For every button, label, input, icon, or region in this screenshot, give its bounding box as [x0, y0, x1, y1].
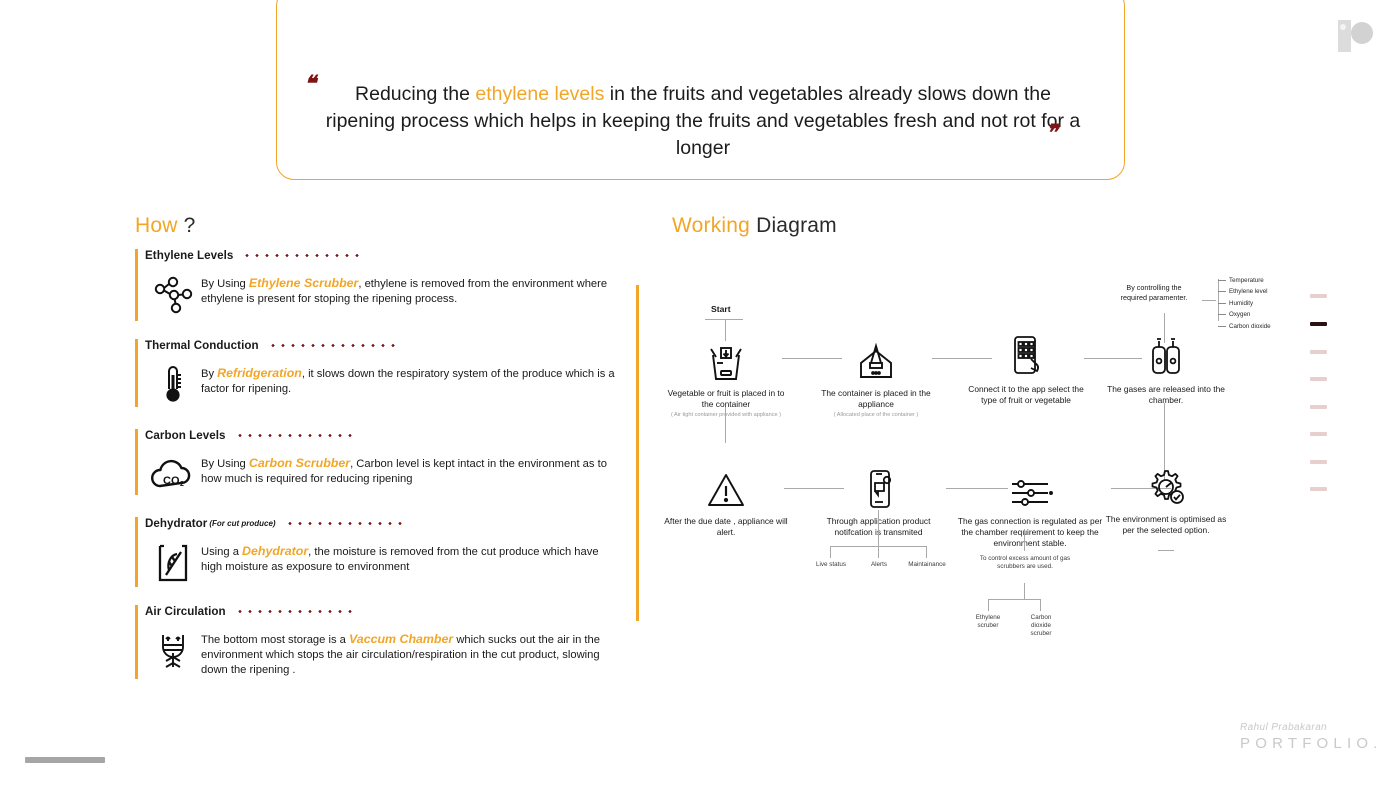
- how-item-description: The bottom most storage is a Vaccum Cham…: [201, 628, 615, 677]
- dotted-divider: [242, 254, 364, 257]
- branch-stem: [878, 510, 879, 546]
- scrubber-leg: [988, 599, 989, 611]
- node-appliance-box[interactable]: The container is placed in the appliance…: [811, 337, 941, 419]
- how-item-heading: Dehydrator: [145, 517, 207, 530]
- how-item-ethylene-levels[interactable]: Ethylene Levels By Using Ethylene Scrubb…: [135, 246, 615, 322]
- how-items-list: Ethylene Levels By Using Ethylene Scrubb…: [135, 246, 615, 694]
- dehydrator-icon: [145, 540, 201, 586]
- dotted-divider: [235, 434, 353, 437]
- author-name: Rahul Prabakaran: [1240, 722, 1383, 733]
- dotted-divider: [268, 344, 400, 347]
- quote-line-pre: Reducing the: [355, 83, 475, 105]
- how-item-heading: Carbon Levels: [145, 429, 226, 442]
- how-item-air-circulation[interactable]: Air Circulation The bottom most storage …: [135, 602, 615, 680]
- sliders-icon: [956, 465, 1104, 511]
- node-caption: Connect it to the app select the type of…: [961, 384, 1091, 406]
- pagination-dash-3[interactable]: [1310, 350, 1327, 354]
- desc-pre: By: [201, 368, 217, 380]
- wd-title-accent: Working: [672, 214, 750, 237]
- branch-label-alerts: Alerts: [858, 561, 900, 569]
- pagination-dash-5[interactable]: [1310, 405, 1327, 409]
- branch-leg: [878, 546, 879, 558]
- how-item-dehydrator[interactable]: Dehydrator (For cut produce) Using a Deh…: [135, 514, 615, 588]
- how-item-header: Air Circulation: [135, 602, 615, 620]
- param-item: Temperature: [1218, 275, 1271, 286]
- accent-bar: [135, 517, 138, 587]
- node-caption: The gas connection is regulated as per t…: [956, 516, 1104, 549]
- molecule-icon: [145, 272, 201, 318]
- gas-cylinders-icon: [1101, 333, 1231, 379]
- logo-dot: [1340, 24, 1346, 30]
- node-subcaption: ( Allocated place of the container ): [811, 412, 941, 419]
- branch-leg: [830, 546, 831, 558]
- desc-pre: By Using: [201, 278, 249, 290]
- quote-highlight: ethylene levels: [475, 83, 604, 105]
- appliance-box-icon: [811, 337, 941, 383]
- how-item-description: By Refridgeration, it slows down the res…: [201, 362, 615, 397]
- slide-pagination[interactable]: [1310, 294, 1327, 515]
- scrubber-label-ethylene: Ethylene scruber: [969, 614, 1007, 630]
- phone-notification-icon: [811, 465, 946, 511]
- param-item: Carbon dioxide: [1218, 321, 1271, 332]
- how-item-heading: Thermal Conduction: [145, 339, 259, 352]
- param-connector: [1202, 300, 1216, 301]
- how-item-description: Using a Dehydrator, the moisture is remo…: [201, 540, 615, 575]
- how-section-title: How ?: [135, 214, 196, 238]
- branch-label-live-status: Live status: [806, 561, 856, 569]
- svg-text:CO: CO: [163, 475, 180, 487]
- pagination-dash-1[interactable]: [1310, 294, 1327, 298]
- node-warning-alert[interactable]: After the due date , appliance will aler…: [664, 465, 788, 538]
- desc-emphasis: Carbon Scrubber: [249, 456, 350, 470]
- how-item-subnote: (For cut produce): [209, 519, 275, 528]
- how-item-body: CO 2 By Using Carbon Scrubber, Carbon le…: [135, 452, 615, 498]
- gear-check-icon: [1101, 463, 1231, 509]
- node-caption: After the due date , appliance will aler…: [664, 516, 788, 538]
- accent-bar: [636, 285, 639, 621]
- param-item: Oxygen: [1218, 309, 1271, 320]
- how-item-thermal-conduction[interactable]: Thermal Conduction By Refridgeration, it…: [135, 336, 615, 412]
- node-phone-app[interactable]: Connect it to the app select the type of…: [961, 333, 1091, 406]
- start-underline: [705, 319, 743, 320]
- warning-triangle-icon: [664, 465, 788, 511]
- quote-card: ❝ Reducing the ethylene levels in the fr…: [276, 0, 1125, 180]
- pagination-dash-6[interactable]: [1310, 432, 1327, 436]
- controlling-note: By controlling the required paramenter.: [1114, 283, 1194, 302]
- accent-bar: [135, 339, 138, 407]
- how-item-body: Using a Dehydrator, the moisture is remo…: [135, 540, 615, 586]
- end-marker: [1158, 550, 1174, 551]
- accent-bar: [135, 249, 138, 321]
- air-circulation-icon: [145, 628, 201, 674]
- accent-bar: [135, 429, 138, 495]
- node-caption: The environment is optimised as per the …: [1101, 514, 1231, 536]
- pagination-dash-4[interactable]: [1310, 377, 1327, 381]
- quote-open-mark: ❝: [304, 71, 315, 97]
- accent-bar: [135, 605, 138, 679]
- quote-text: Reducing the ethylene levels in the frui…: [325, 81, 1081, 162]
- scrubber-leg: [1040, 599, 1041, 611]
- container-place-icon: [661, 337, 791, 383]
- how-title-accent: How: [135, 214, 178, 237]
- how-item-carbon-levels[interactable]: Carbon Levels CO 2 By Using Carbon Scrub…: [135, 426, 615, 498]
- branch-leg: [926, 546, 927, 558]
- portfolio-logo-mark: [1338, 16, 1376, 52]
- working-diagram: Start Vegetable or fruit is placed in to…: [636, 285, 1336, 625]
- how-item-description: By Using Carbon Scrubber, Carbon level i…: [201, 452, 615, 487]
- horizontal-scrollbar[interactable]: [25, 757, 105, 763]
- scrubber-note: To control excess amount of gas scrubber…: [974, 555, 1076, 571]
- parameters-list: Temperature Ethylene level Humidity Oxyg…: [1218, 275, 1271, 332]
- desc-emphasis: Dehydrator: [242, 544, 308, 558]
- how-item-body: The bottom most storage is a Vaccum Cham…: [135, 628, 615, 677]
- node-caption: The container is placed in the appliance: [811, 388, 941, 410]
- desc-emphasis: Vaccum Chamber: [349, 632, 453, 646]
- how-item-description: By Using Ethylene Scrubber, ethylene is …: [201, 272, 615, 307]
- start-label: Start: [711, 304, 731, 314]
- scrubber-stem-2: [1024, 583, 1025, 599]
- co2-cloud-icon: CO 2: [145, 452, 201, 498]
- desc-pre: The bottom most storage is a: [201, 634, 349, 646]
- param-item: Ethylene level: [1218, 286, 1271, 297]
- how-item-body: By Refridgeration, it slows down the res…: [135, 362, 615, 408]
- dotted-divider: [285, 522, 407, 525]
- logo-ball: [1351, 22, 1373, 44]
- how-item-header: Ethylene Levels: [135, 246, 615, 264]
- portfolio-wordmark: PORTFOLIO.: [1240, 735, 1383, 752]
- thermometer-icon: [145, 362, 201, 408]
- pagination-dash-8[interactable]: [1310, 487, 1327, 491]
- desc-pre: Using a: [201, 546, 242, 558]
- slide-page: ❝ Reducing the ethylene levels in the fr…: [0, 0, 1400, 788]
- how-item-body: By Using Ethylene Scrubber, ethylene is …: [135, 272, 615, 318]
- node-gas-cylinders[interactable]: The gases are released into the chamber.: [1101, 333, 1231, 406]
- desc-emphasis: Ethylene Scrubber: [249, 276, 358, 290]
- scrubber-stem: [1024, 529, 1025, 551]
- pagination-dash-7[interactable]: [1310, 460, 1327, 464]
- how-title-rest: ?: [178, 214, 196, 237]
- row-connector-left: [725, 407, 726, 443]
- dotted-divider: [235, 610, 353, 613]
- node-gas-regulation[interactable]: The gas connection is regulated as per t…: [956, 465, 1104, 549]
- how-item-heading: Ethylene Levels: [145, 249, 233, 262]
- how-item-header: Carbon Levels: [135, 426, 615, 444]
- svg-text:2: 2: [180, 481, 184, 488]
- desc-pre: By Using: [201, 458, 249, 470]
- scrubber-rail: [988, 599, 1040, 600]
- how-item-header: Thermal Conduction: [135, 336, 615, 354]
- footer-brand: Rahul Prabakaran PORTFOLIO.: [1240, 722, 1383, 752]
- quote-close-mark: ❞: [1046, 120, 1057, 146]
- node-caption: The gases are released into the chamber.: [1101, 384, 1231, 406]
- wd-title-rest: Diagram: [750, 214, 837, 237]
- node-environment-optimised[interactable]: The environment is optimised as per the …: [1101, 463, 1231, 536]
- how-item-header: Dehydrator (For cut produce): [135, 514, 615, 532]
- branch-label-maintainance: Maintainance: [898, 561, 956, 569]
- pagination-dash-2-active[interactable]: [1310, 322, 1327, 327]
- how-item-heading: Air Circulation: [145, 605, 226, 618]
- desc-emphasis: Refridgeration: [217, 366, 302, 380]
- scrubber-label-carbon-dioxide: Carbon dioxide scruber: [1022, 614, 1060, 639]
- param-item: Humidity: [1218, 298, 1271, 309]
- working-diagram-title: Working Diagram: [672, 214, 837, 238]
- phone-app-icon: [961, 333, 1091, 379]
